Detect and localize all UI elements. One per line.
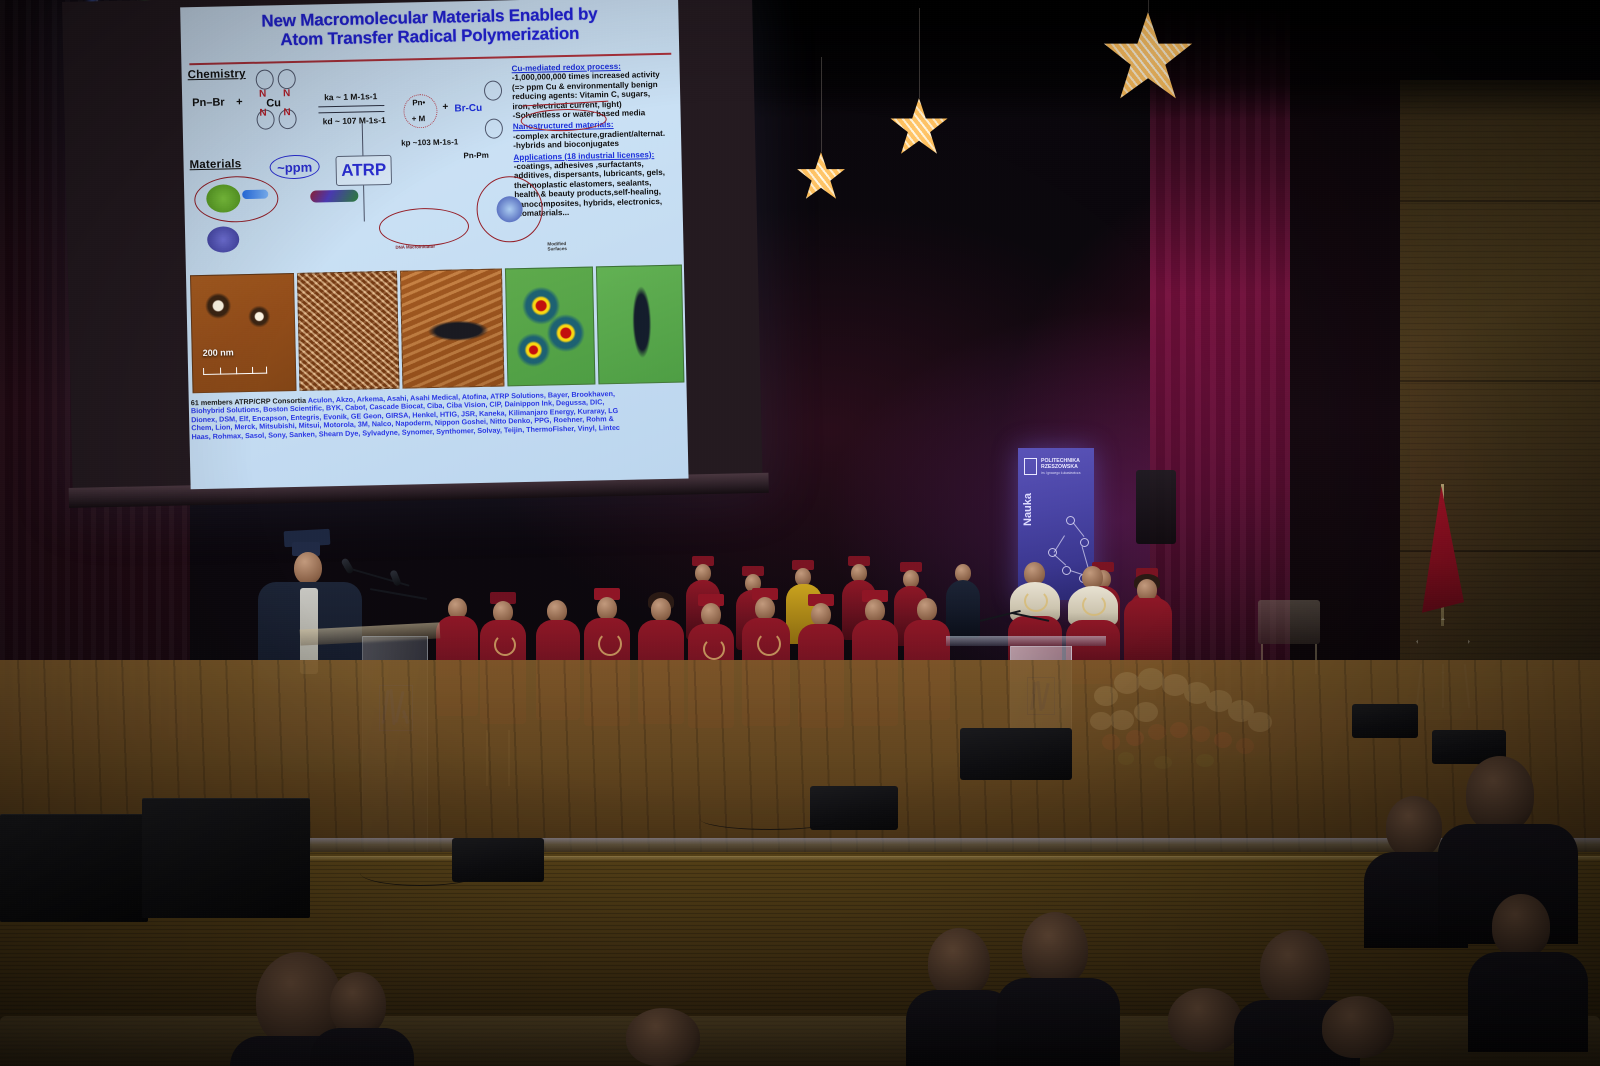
ceremonial-chain bbox=[1082, 594, 1106, 616]
university-logo-icon bbox=[1024, 458, 1037, 475]
rollup-name-subtext: im. Ignacego Łukasiewicza bbox=[1041, 470, 1091, 476]
stage-cable-2 bbox=[700, 808, 840, 830]
ceremonial-chain bbox=[1024, 590, 1048, 612]
stage-monitor-2 bbox=[960, 728, 1072, 780]
rate-constant-deactivation: kd ~ 107 M-1s-1 bbox=[323, 115, 386, 126]
scale-bar-label: 200 nm bbox=[203, 347, 234, 358]
reactant-label: Pn–Br bbox=[192, 96, 225, 109]
subwoofer-left bbox=[0, 814, 148, 922]
star-lamp-small bbox=[795, 152, 847, 204]
stage-monitor-4 bbox=[1352, 704, 1418, 738]
rollup-vertical-text: Nauka bbox=[1022, 493, 1034, 526]
slide-title: New Macromolecular Materials Enabled by … bbox=[190, 3, 669, 51]
presentation-slide: New Macromolecular Materials Enabled by … bbox=[180, 0, 688, 489]
modified-surfaces-caption: Modified Surfaces bbox=[547, 241, 567, 251]
materials-illustrations: DNA Macroinitiator Modified Surfaces bbox=[187, 150, 519, 267]
ceremonial-chain bbox=[494, 634, 516, 656]
product-copper-label: Br-Cu bbox=[454, 103, 482, 115]
rate-constant-activation: ka ~ 1 M-1s-1 bbox=[324, 91, 377, 102]
rollup-university-name: POLITECHNIKA RZESZOWSKA im. Ignacego Łuk… bbox=[1041, 458, 1091, 476]
flag-cloth-red bbox=[1422, 486, 1464, 618]
ceremonial-chain bbox=[598, 632, 622, 656]
rollup-name-text: POLITECHNIKA RZESZOWSKA bbox=[1041, 458, 1080, 470]
copper-center-label: Cu bbox=[266, 97, 281, 109]
ceremonial-chain bbox=[703, 638, 725, 660]
ceremonial-chain bbox=[757, 632, 781, 656]
subwoofer-right bbox=[142, 798, 310, 918]
line-array-speaker bbox=[1136, 470, 1176, 544]
projection-screen: New Macromolecular Materials Enabled by … bbox=[62, 0, 763, 506]
plus-sign-2: + bbox=[442, 102, 448, 113]
microscopy-image-3-particle bbox=[400, 268, 505, 388]
nitrogen-atom-2: N bbox=[283, 88, 290, 99]
rate-constant-propagation: kp ~103 M-1s-1 bbox=[401, 137, 458, 147]
dna-macroinitiator-caption: DNA Macroinitiator bbox=[395, 244, 435, 250]
microscopy-image-row: 200 nm bbox=[190, 265, 685, 398]
monomer-label: + M bbox=[412, 114, 426, 123]
microscopy-image-1-afm: 200 nm bbox=[190, 273, 297, 393]
microscopy-image-5-structure bbox=[596, 265, 685, 385]
consortia-member-list: 61 members ATRP/CRP Consortia Aculon, Ak… bbox=[191, 389, 686, 442]
star-lamp-medium bbox=[888, 98, 950, 160]
scale-bar bbox=[203, 367, 267, 375]
microscopy-image-2-fibers bbox=[297, 271, 400, 391]
star-lamp-large bbox=[1100, 12, 1196, 108]
plus-sign-1: + bbox=[236, 96, 243, 108]
conference-hall-photo: New Macromolecular Materials Enabled by … bbox=[0, 0, 1600, 1066]
dais-table-top bbox=[946, 636, 1106, 646]
microscopy-image-4-heatmap bbox=[505, 266, 596, 386]
materials-circle-dna bbox=[379, 207, 470, 247]
stage-cable-1 bbox=[360, 860, 480, 886]
radical-species-label: Pn• bbox=[412, 98, 425, 107]
nitrogen-atom-4: N bbox=[283, 107, 290, 118]
